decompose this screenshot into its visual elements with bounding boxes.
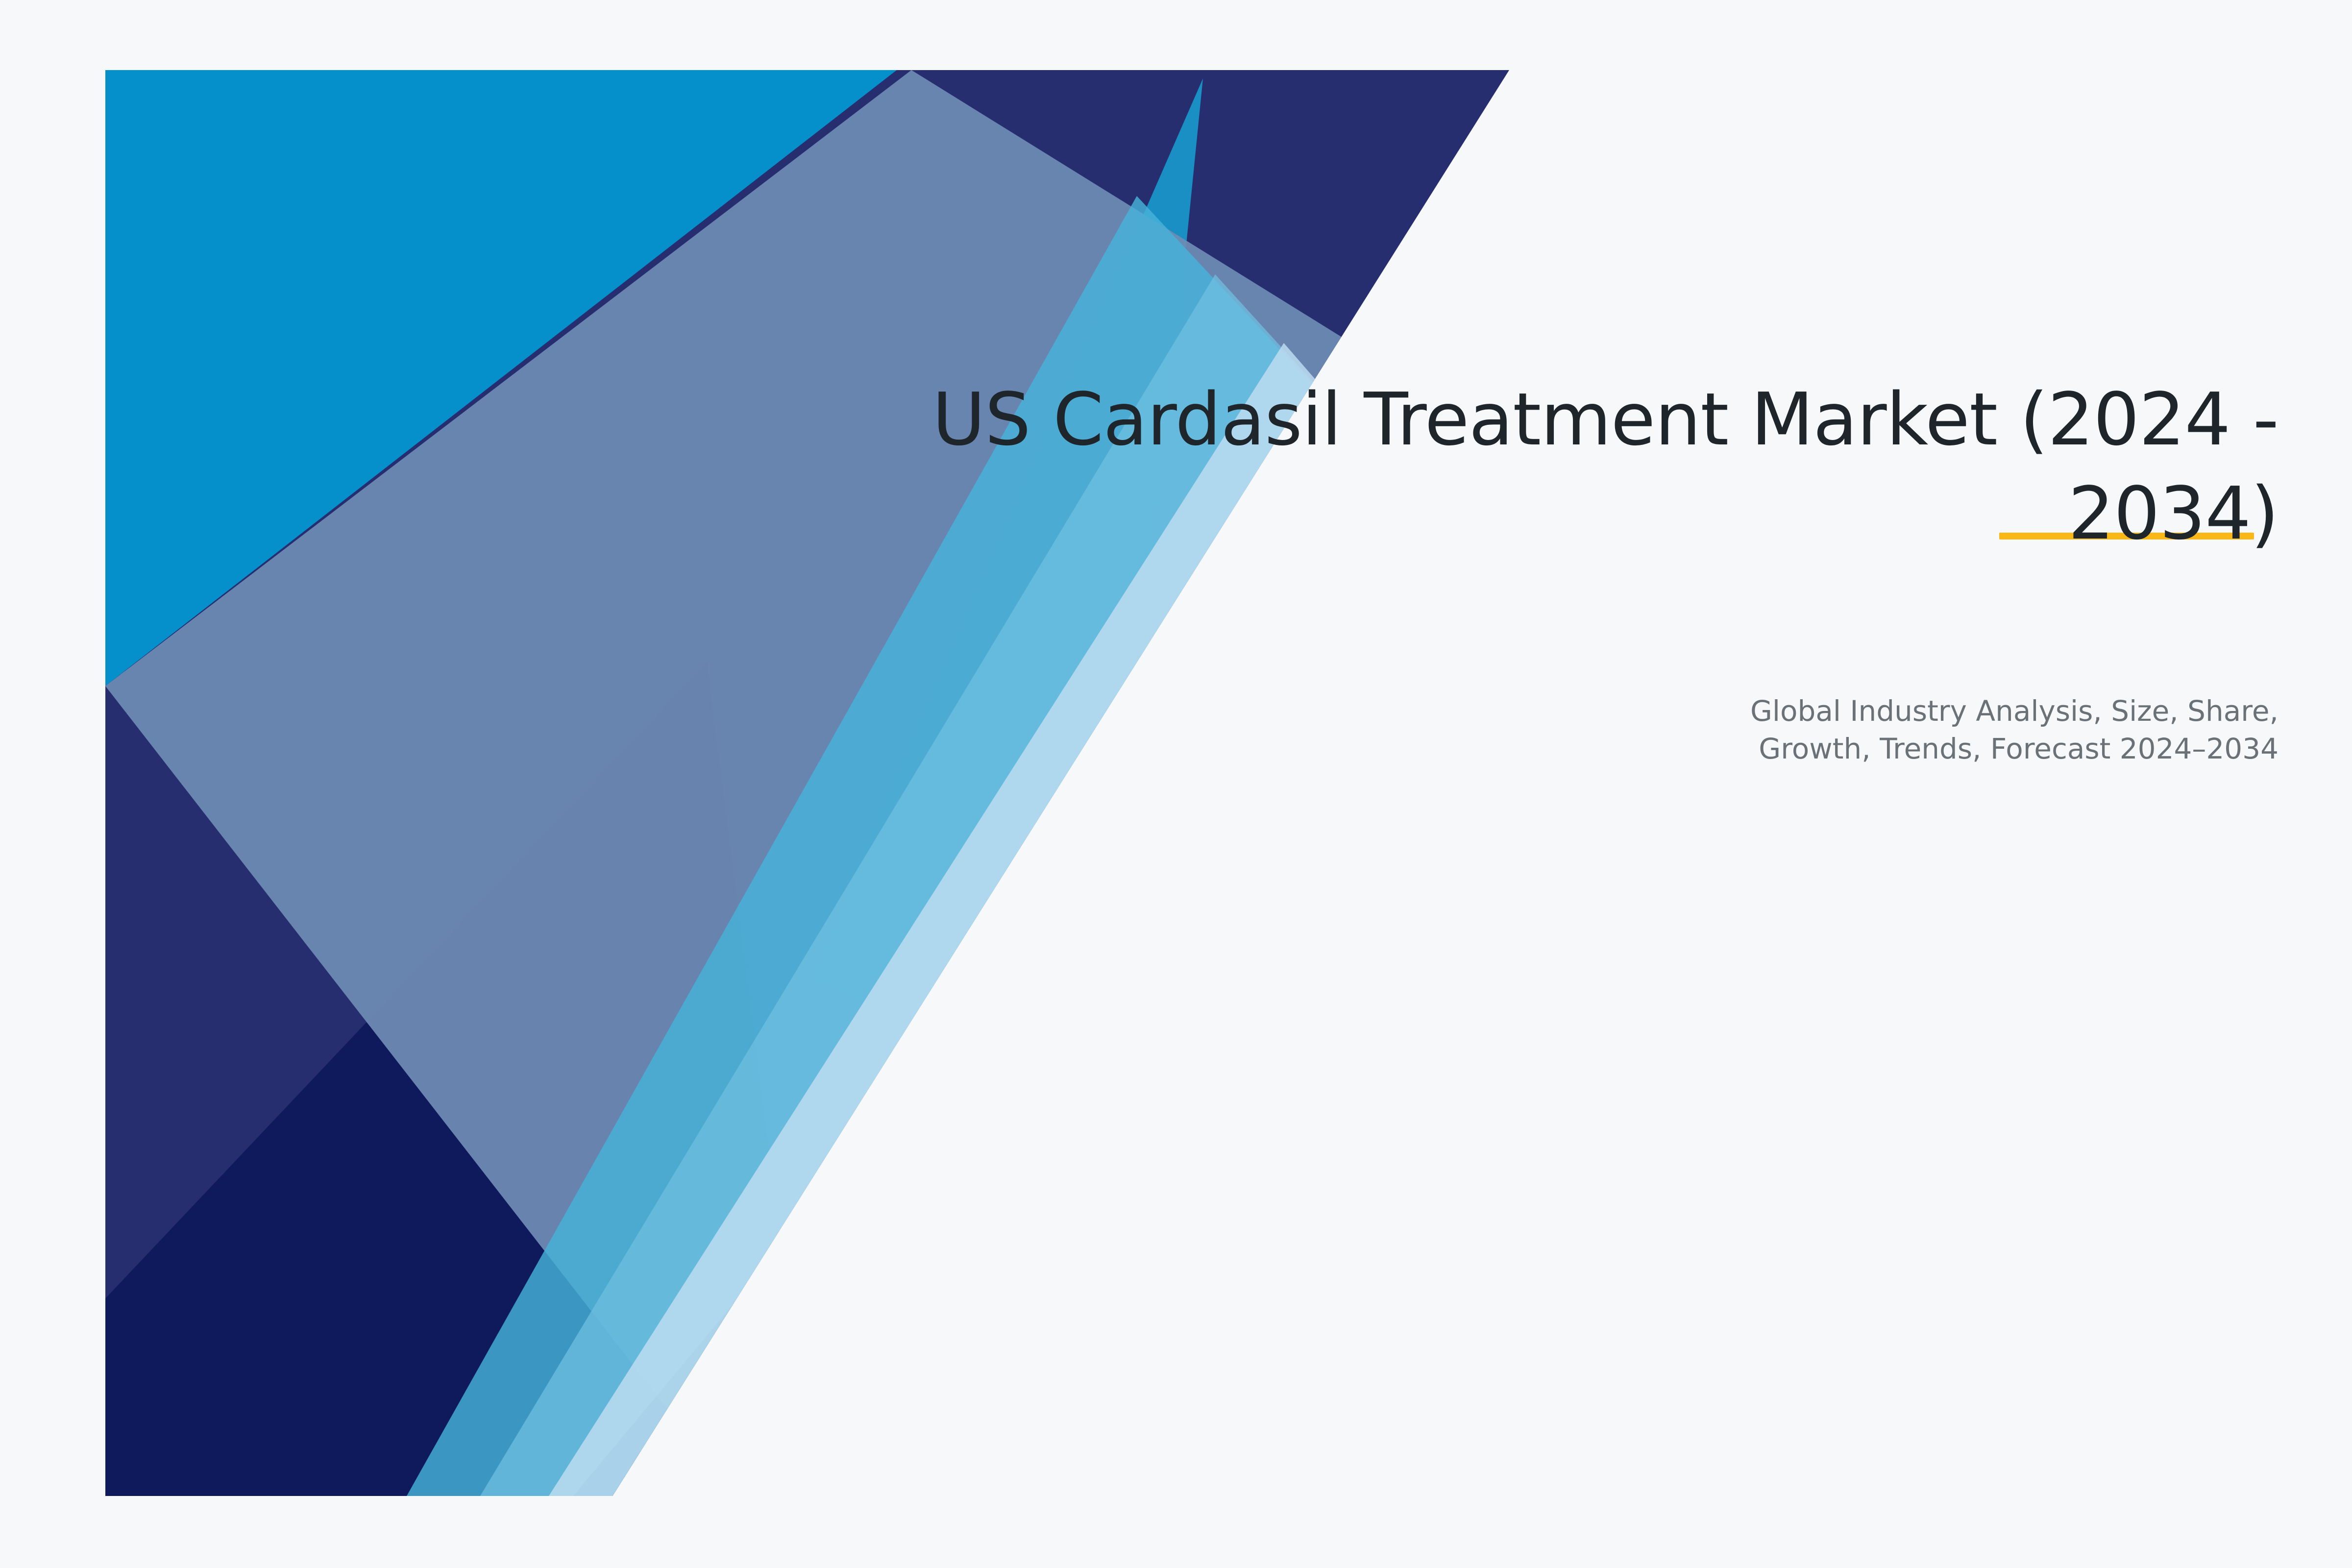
slate-blue-overlay-shape [105, 70, 1367, 1496]
page-title: US Cardasil Treatment Market (2024 - 203… [808, 372, 2278, 561]
cover-text-block: US Cardasil Treatment Market (2024 - 203… [808, 372, 2278, 768]
abstract-polygon-graphic [0, 0, 2352, 1568]
navy-deep-lower-shape [105, 662, 813, 1496]
navy-deep-spike-shape [105, 662, 707, 1496]
report-cover: US Cardasil Treatment Market (2024 - 203… [0, 0, 2352, 1568]
page-subtitle: Global Industry Analysis, Size, Share, G… [1632, 692, 2278, 768]
title-wrap: US Cardasil Treatment Market (2024 - 203… [808, 372, 2278, 561]
navy-wedge-upper-shape [105, 70, 1509, 1496]
cyan-field-shape [105, 70, 1225, 1496]
